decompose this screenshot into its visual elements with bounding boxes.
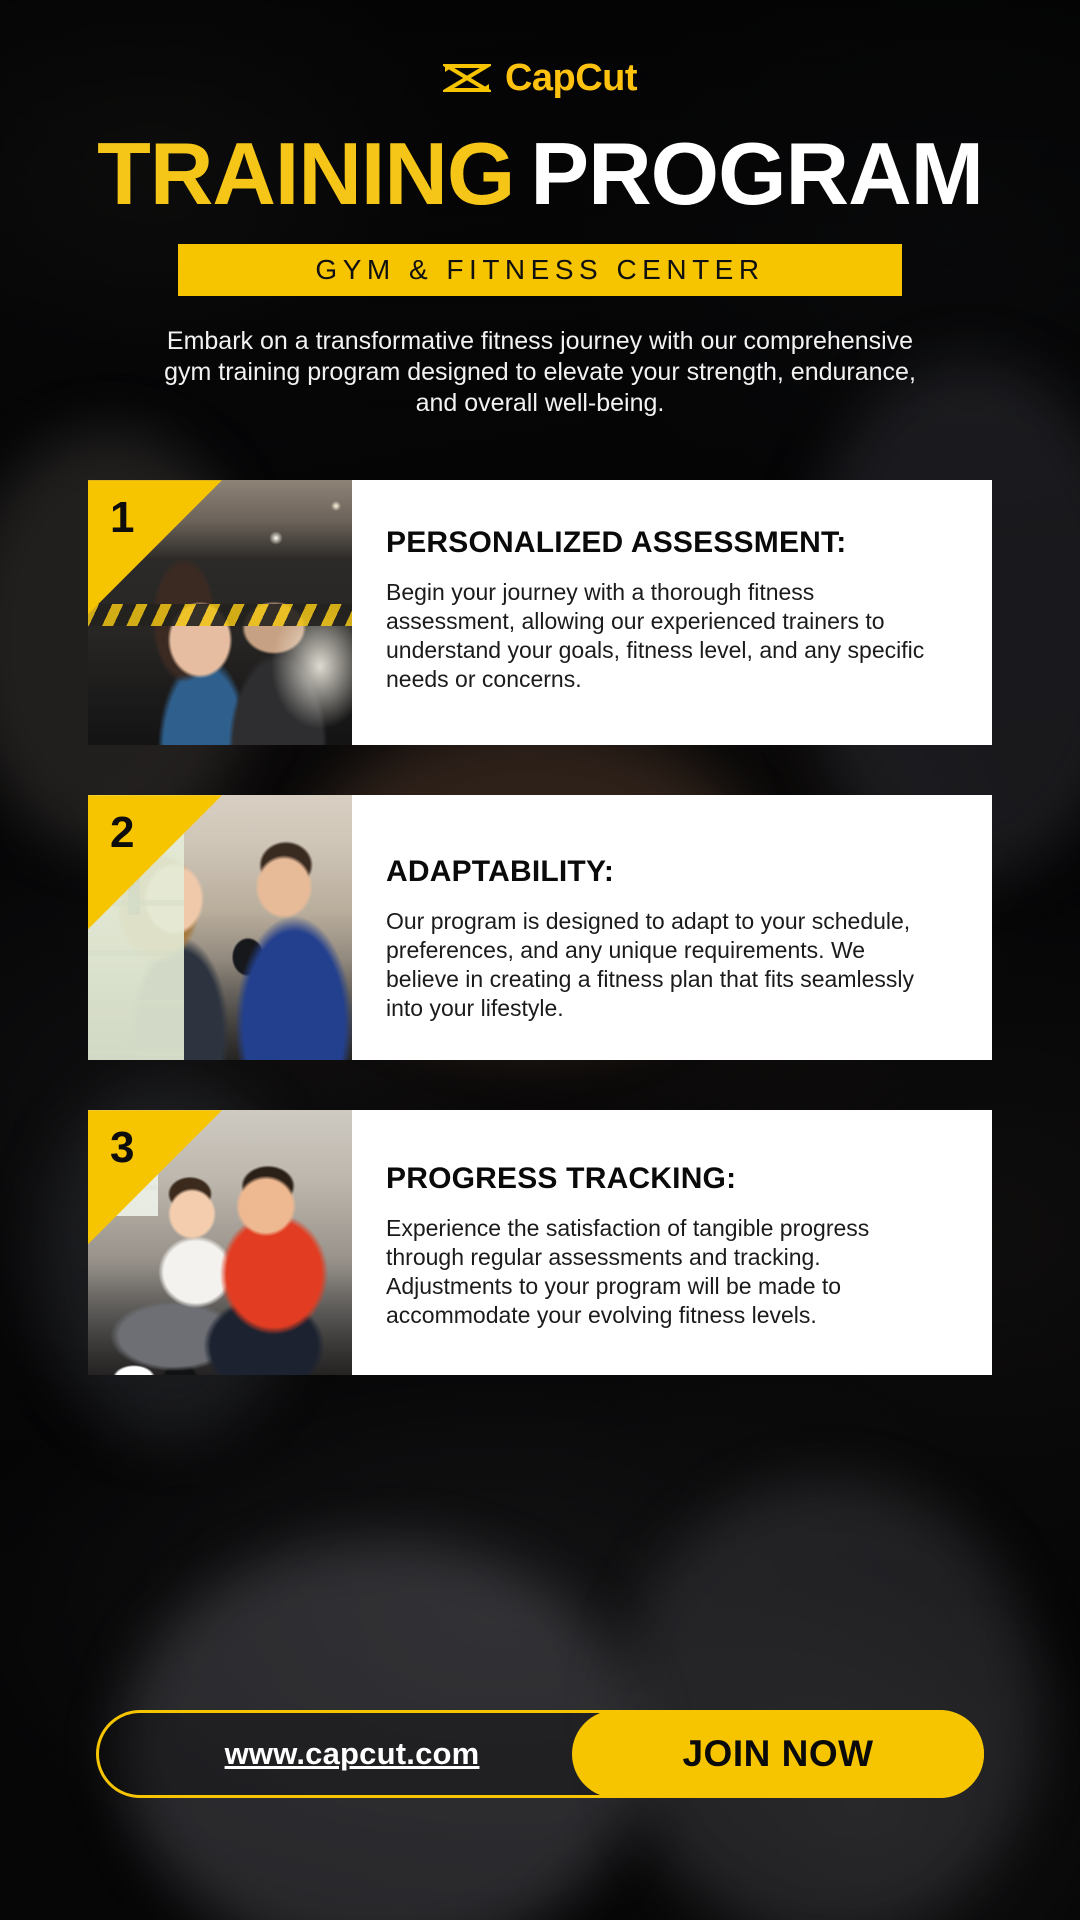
step-number: 3 — [110, 1126, 134, 1170]
join-now-button[interactable]: JOIN NOW — [572, 1710, 984, 1798]
card-title: ADAPTABILITY: — [386, 855, 938, 889]
list-item[interactable]: 2 ADAPTABILITY: Our program is designed … — [88, 795, 992, 1060]
brand-name: CapCut — [505, 59, 637, 97]
page-title-part1: TRAINING — [97, 124, 514, 223]
corner-triangle-shape — [88, 480, 222, 614]
card-body: PROGRESS TRACKING: Experience the satisf… — [352, 1110, 992, 1375]
page-title: TRAININGPROGRAM — [0, 130, 1080, 218]
brand-logo: CapCut — [0, 54, 1080, 102]
intro-paragraph: Embark on a transformative fitness journ… — [150, 326, 930, 418]
corner-triangle-shape — [88, 1110, 222, 1244]
list-item[interactable]: 3 PROGRESS TRACKING: Experience the sati… — [88, 1110, 992, 1375]
poster-root: CapCut TRAININGPROGRAM GYM & FITNESS CEN… — [0, 0, 1080, 1920]
card-title: PROGRESS TRACKING: — [386, 1162, 938, 1196]
capcut-logo-icon — [443, 60, 491, 96]
subtitle-ribbon-label: GYM & FITNESS CENTER — [315, 254, 764, 286]
step-number-badge: 3 — [88, 1110, 222, 1244]
card-text: Experience the satisfaction of tangible … — [386, 1214, 938, 1330]
corner-triangle-shape — [88, 795, 222, 929]
header: CapCut TRAININGPROGRAM GYM & FITNESS CEN… — [0, 0, 1080, 418]
step-number: 2 — [110, 811, 134, 855]
website-link[interactable]: www.capcut.com — [96, 1710, 608, 1798]
page-title-part2: PROGRAM — [530, 124, 983, 223]
card-body: PERSONALIZED ASSESSMENT: Begin your jour… — [352, 480, 992, 745]
steps-list: 1 PERSONALIZED ASSESSMENT: Begin your jo… — [0, 480, 1080, 1375]
list-item[interactable]: 1 PERSONALIZED ASSESSMENT: Begin your jo… — [88, 480, 992, 745]
step-number-badge: 2 — [88, 795, 222, 929]
card-image: 3 — [88, 1110, 352, 1375]
step-number-badge: 1 — [88, 480, 222, 614]
subtitle-ribbon: GYM & FITNESS CENTER — [178, 244, 902, 296]
card-text: Our program is designed to adapt to your… — [386, 907, 938, 1023]
card-image: 2 — [88, 795, 352, 1060]
card-image: 1 — [88, 480, 352, 745]
card-title: PERSONALIZED ASSESSMENT: — [386, 526, 938, 560]
footer-cta-bar: www.capcut.com JOIN NOW — [96, 1710, 984, 1798]
card-body: ADAPTABILITY: Our program is designed to… — [352, 795, 992, 1060]
step-number: 1 — [110, 496, 134, 540]
card-text: Begin your journey with a thorough fitne… — [386, 578, 938, 694]
